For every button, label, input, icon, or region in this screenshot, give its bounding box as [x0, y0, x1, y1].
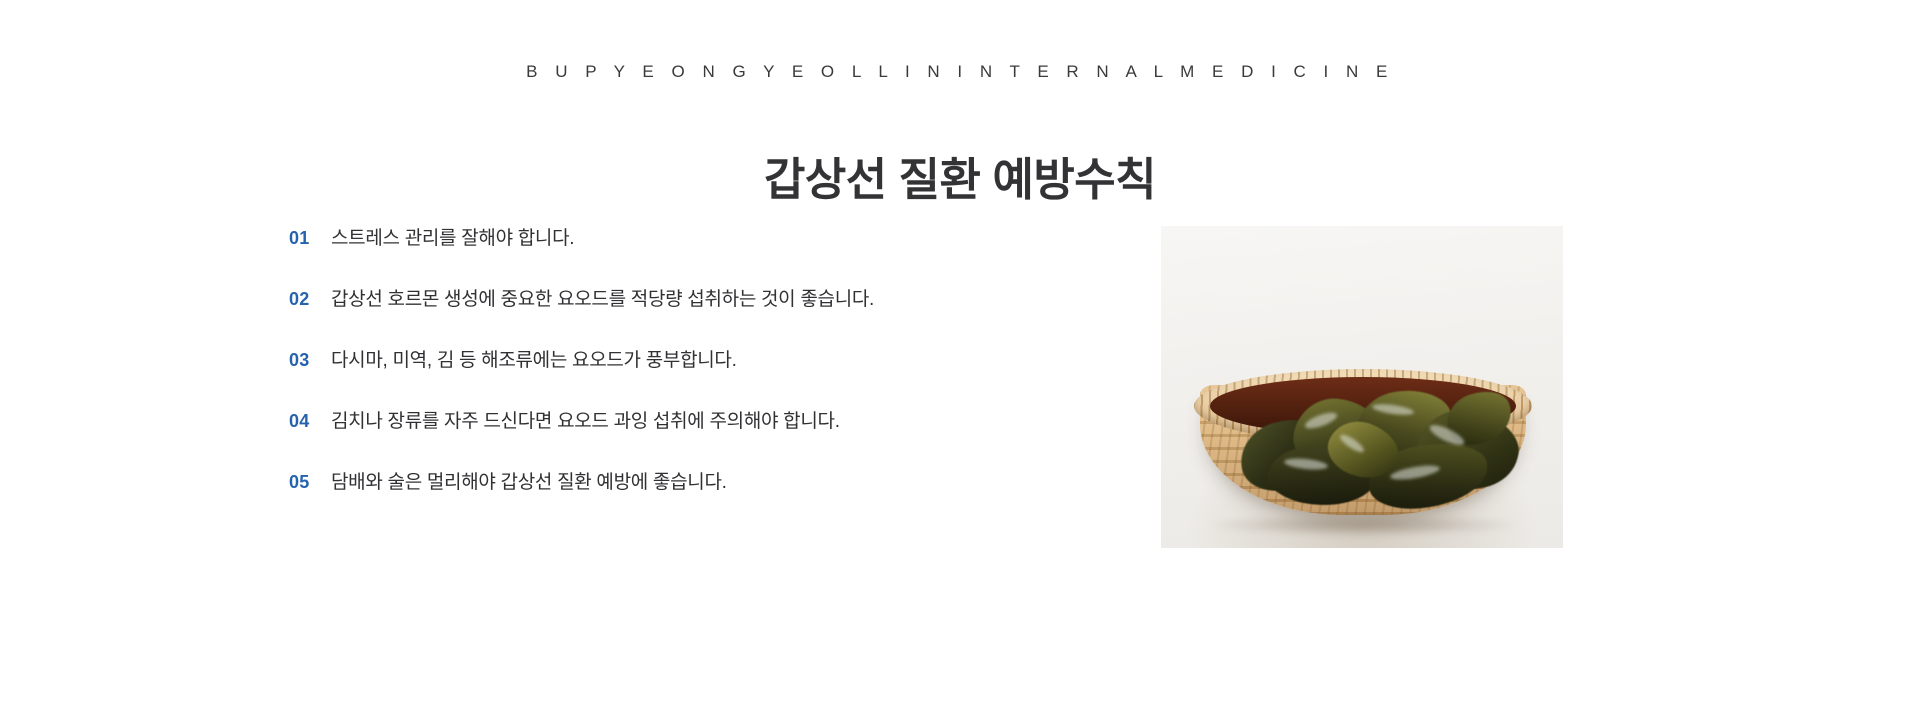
list-item-number: 05	[289, 472, 331, 493]
list-item-number: 03	[289, 350, 331, 371]
wicker-basket	[1188, 349, 1538, 529]
seaweed-photo	[1161, 226, 1563, 548]
list-item-text: 갑상선 호르몬 생성에 중요한 요오드를 적당량 섭취하는 것이 좋습니다.	[331, 287, 874, 314]
list-item: 02 갑상선 호르몬 생성에 중요한 요오드를 적당량 섭취하는 것이 좋습니다…	[289, 287, 1109, 348]
page-title: 갑상선 질환 예방수칙	[0, 143, 1920, 208]
slide-root: B U P Y E O N G Y E O L L I N I N T E R …	[0, 0, 1920, 702]
photo-backdrop	[1161, 226, 1563, 548]
list-item-number: 02	[289, 289, 331, 310]
list-item: 05 담배와 술은 멀리해야 갑상선 질환 예방에 좋습니다.	[289, 470, 1109, 531]
basket-drop-shadow	[1207, 514, 1519, 536]
seaweed-pile	[1232, 389, 1532, 514]
clinic-name-eyebrow: B U P Y E O N G Y E O L L I N I N T E R …	[0, 62, 1920, 82]
content-area: 01 스트레스 관리를 잘해야 합니다. 02 갑상선 호르몬 생성에 중요한 …	[0, 226, 1920, 546]
list-item: 04 김치나 장류를 자주 드신다면 요오드 과잉 섭취에 주의해야 합니다.	[289, 409, 1109, 470]
list-item-text: 김치나 장류를 자주 드신다면 요오드 과잉 섭취에 주의해야 합니다.	[331, 409, 840, 436]
list-item-text: 스트레스 관리를 잘해야 합니다.	[331, 226, 574, 253]
list-item: 03 다시마, 미역, 김 등 해조류에는 요오드가 풍부합니다.	[289, 348, 1109, 409]
list-item-number: 01	[289, 228, 331, 249]
prevention-tips-list: 01 스트레스 관리를 잘해야 합니다. 02 갑상선 호르몬 생성에 중요한 …	[289, 226, 1109, 531]
list-item-text: 담배와 술은 멀리해야 갑상선 질환 예방에 좋습니다.	[331, 470, 727, 497]
list-item-number: 04	[289, 411, 331, 432]
list-item: 01 스트레스 관리를 잘해야 합니다.	[289, 226, 1109, 287]
list-item-text: 다시마, 미역, 김 등 해조류에는 요오드가 풍부합니다.	[331, 348, 737, 375]
